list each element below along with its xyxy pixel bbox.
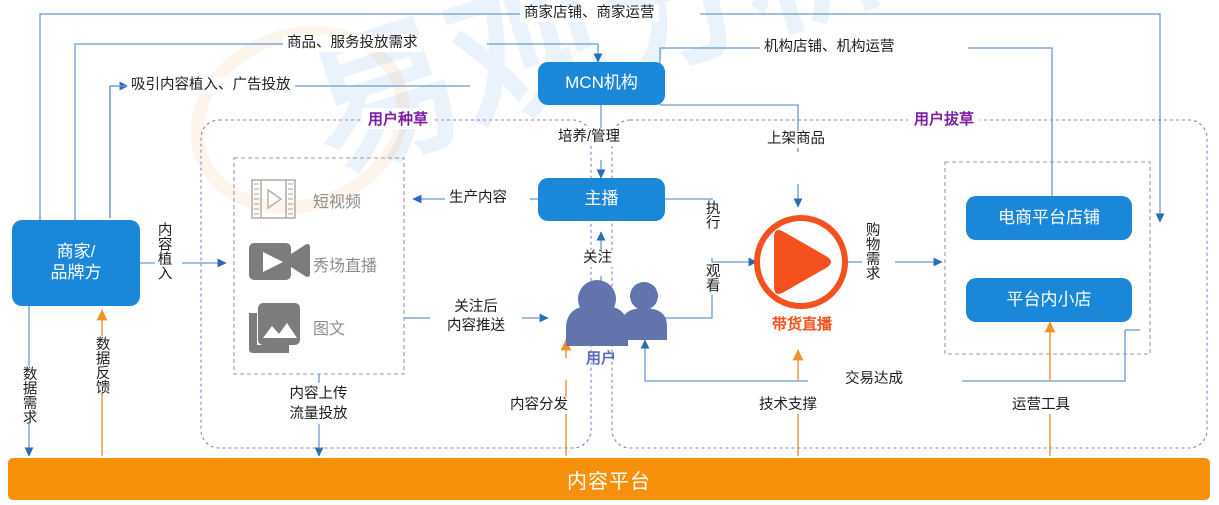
user-caption: 用户	[573, 347, 629, 368]
diagram-canvas: 易观分析	[0, 0, 1219, 505]
edge-label-follow-push: 关注后 内容推送	[430, 298, 522, 336]
image-stack-icon	[249, 303, 300, 353]
edge-label-tech-support: 技术支撑	[755, 397, 821, 414]
zone-label-right: 用户拔草	[908, 108, 980, 129]
node-anchor[interactable]: 主播	[538, 178, 665, 221]
edge-label-cultivate-manage: 培养/管理	[554, 129, 624, 146]
video-camera-icon	[249, 243, 310, 280]
edge-label-shopping-demand: 购物需求	[863, 222, 880, 280]
edge-label-ops-tools: 运营工具	[1008, 397, 1074, 414]
zone-label-left: 用户种草	[362, 108, 434, 129]
edge-label-produce-content: 生产内容	[445, 190, 511, 207]
edge-label-content-distribute: 内容分发	[506, 397, 572, 414]
edge-label-content-upload: 内容上传 流量投放	[266, 385, 371, 424]
edge-label-execute: 执行	[703, 200, 720, 229]
node-merchant-brand[interactable]: 商家/ 品牌方	[12, 220, 140, 306]
edge-label-attract-content: 吸引内容植入、广告投放	[127, 77, 295, 94]
node-ecommerce-shop[interactable]: 电商平台店铺	[966, 196, 1132, 240]
media-label-show-live: 秀场直播	[313, 252, 377, 276]
edge-label-data-demand: 数据需求	[20, 366, 37, 424]
edge-label-mcn-shop: 机构店铺、机构运营	[760, 39, 899, 56]
media-label-short-video: 短视频	[313, 188, 361, 212]
film-strip-icon	[252, 180, 295, 218]
node-merchant-line2: 品牌方	[51, 263, 102, 284]
edge-label-data-feedback: 数据反馈	[93, 336, 110, 394]
edge-label-list-goods: 上架商品	[763, 131, 829, 148]
node-merchant-line1: 商家/	[57, 242, 96, 263]
edge-label-content-embed: 内容植入	[155, 222, 172, 280]
live-commerce-caption: 带货直播	[757, 313, 847, 334]
edge-label-follow: 关注	[579, 250, 616, 267]
users-icon	[566, 280, 667, 346]
node-mcn-agency[interactable]: MCN机构	[538, 62, 665, 105]
edge-label-deal-done: 交易达成	[840, 371, 908, 388]
edge-label-merchant-shop: 商家店铺、商家运营	[520, 5, 659, 22]
node-platform-shop[interactable]: 平台内小店	[966, 278, 1132, 322]
edge-label-watch: 观看	[703, 263, 720, 292]
live-commerce-play-icon	[757, 218, 845, 306]
edge-label-goods-service-demand: 商品、服务投放需求	[283, 35, 422, 52]
node-content-platform[interactable]: 内容平台	[8, 458, 1210, 500]
media-label-graphic-text: 图文	[313, 315, 345, 339]
